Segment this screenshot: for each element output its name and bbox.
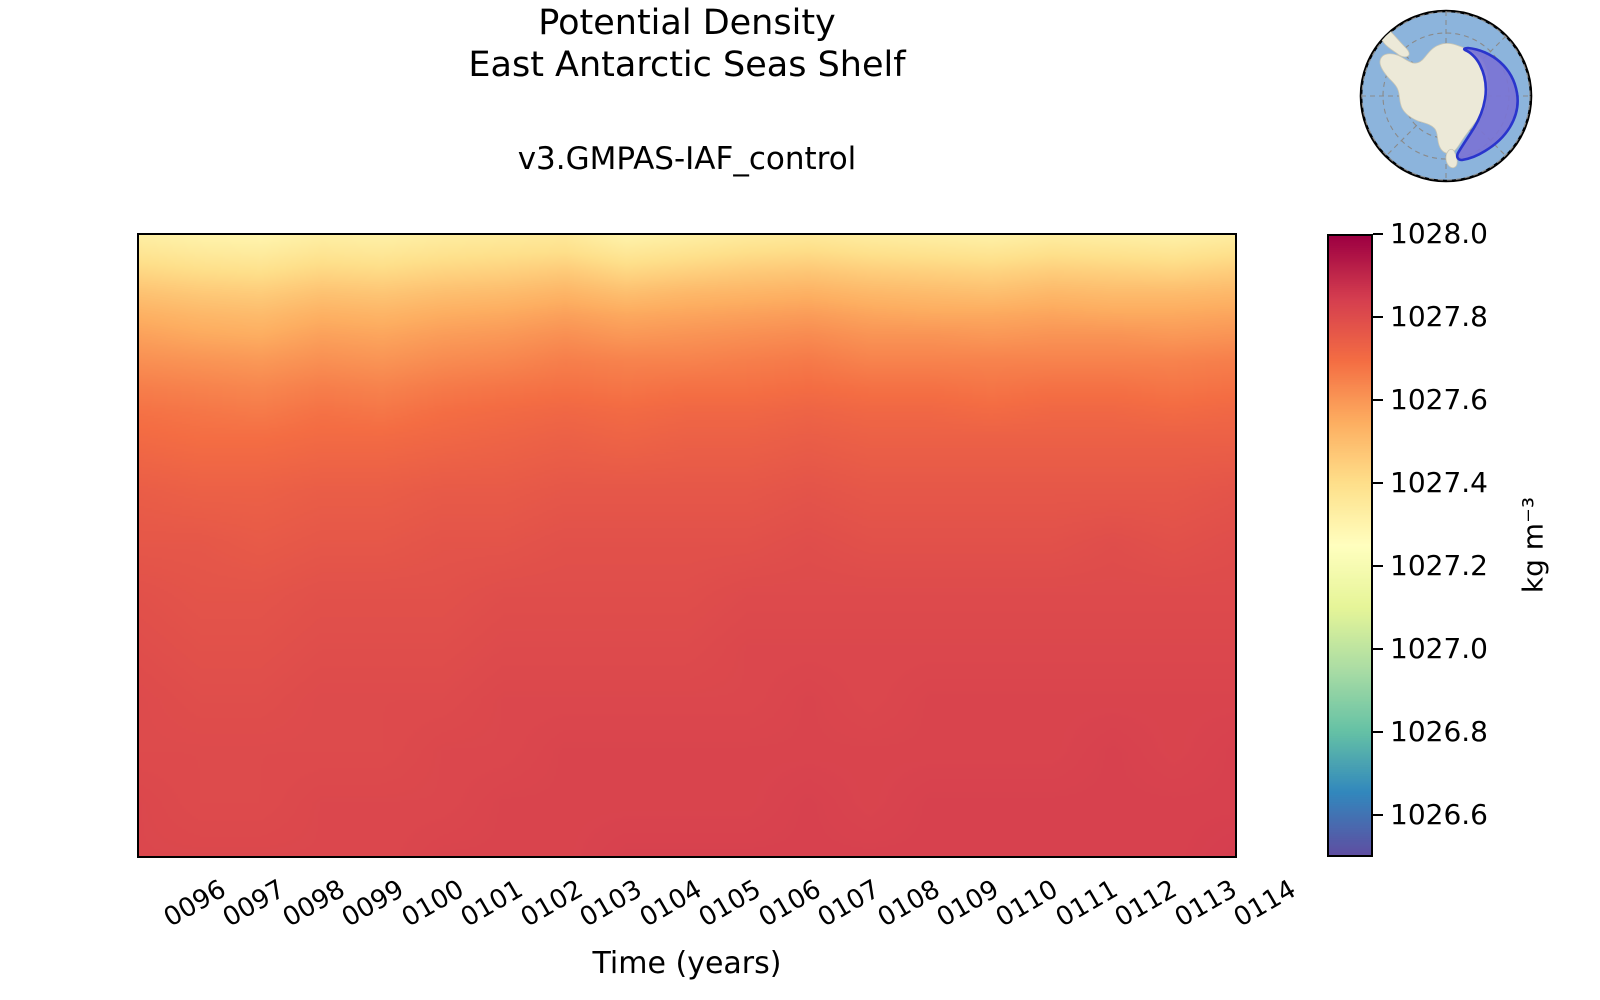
y-axis-tick-mark — [137, 649, 139, 651]
colorbar-tick-mark — [1373, 399, 1383, 401]
x-axis-tick-mark — [970, 856, 972, 858]
x-axis-tick-mark — [435, 856, 437, 858]
x-axis-tick-label: 0106 — [754, 876, 824, 932]
title-line-1: Potential Density — [137, 2, 1237, 44]
x-axis-tick-label: 0102 — [517, 876, 587, 932]
heatmap-plot-area — [137, 233, 1237, 858]
colorbar-tick-mark — [1373, 814, 1383, 816]
colorbar-unit-label: kg m⁻³ — [1517, 497, 1550, 593]
x-axis-tick-label: 0110 — [992, 876, 1062, 932]
x-axis-tick-mark — [911, 856, 913, 858]
x-axis-tick-label: 0098 — [279, 876, 349, 932]
x-axis-tick-mark — [1208, 856, 1210, 858]
colorbar-tick-label: 1027.4 — [1390, 469, 1488, 497]
antarctica-polar-inset-map — [1355, 5, 1537, 187]
colorbar-tick-mark — [1373, 482, 1383, 484]
colorbar-tick-label: 1028.0 — [1390, 220, 1488, 248]
x-axis-tick-mark — [1089, 856, 1091, 858]
x-axis-tick-label: 0111 — [1052, 876, 1122, 932]
y-axis-tick-mark — [137, 754, 139, 756]
colorbar — [1327, 234, 1373, 857]
x-axis-tick-mark — [733, 856, 735, 858]
x-axis-tick-mark — [1030, 856, 1032, 858]
colorbar-tick-mark — [1373, 233, 1383, 235]
colorbar-tick-label: 1027.2 — [1390, 552, 1488, 580]
x-axis-tick-mark — [1149, 856, 1151, 858]
x-axis-tick-label: 0107 — [814, 876, 884, 932]
x-axis-tick-label: 0096 — [160, 876, 230, 932]
colorbar-tick-mark — [1373, 648, 1383, 650]
y-axis-tick-mark — [137, 335, 139, 337]
x-axis-tick-mark — [376, 856, 378, 858]
figure-title: Potential Density East Antarctic Seas Sh… — [137, 2, 1237, 86]
y-axis-tick-mark — [137, 440, 139, 442]
x-axis-tick-mark — [138, 856, 140, 858]
colorbar-tick-label: 1026.6 — [1390, 801, 1488, 829]
x-axis-tick-mark — [792, 856, 794, 858]
colorbar-tick-label: 1027.0 — [1390, 635, 1488, 663]
colorbar-tick-mark — [1373, 731, 1383, 733]
x-axis-tick-mark — [554, 856, 556, 858]
x-axis-tick-mark — [673, 856, 675, 858]
x-axis-tick-label: 0109 — [933, 876, 1003, 932]
x-axis-tick-mark — [257, 856, 259, 858]
colorbar-tick-label: 1026.8 — [1390, 718, 1488, 746]
x-axis-tick-label: 0100 — [398, 876, 468, 932]
title-line-2: East Antarctic Seas Shelf — [137, 44, 1237, 86]
colorbar-tick-mark — [1373, 316, 1383, 318]
colorbar-tick-mark — [1373, 565, 1383, 567]
y-axis-tick-mark — [137, 544, 139, 546]
heatmap-image — [139, 235, 1235, 856]
x-axis-label: Time (years) — [137, 946, 1237, 981]
x-axis-tick-label: 0104 — [636, 876, 706, 932]
x-axis-tick-label: 0099 — [338, 876, 408, 932]
figure-subtitle: v3.GMPAS-IAF_control — [137, 140, 1237, 178]
x-axis-tick-mark — [614, 856, 616, 858]
x-axis-tick-mark — [316, 856, 318, 858]
x-axis-tick-label: 0103 — [576, 876, 646, 932]
x-axis-tick-label: 0114 — [1230, 876, 1300, 932]
x-axis-tick-label: 0097 — [219, 876, 289, 932]
x-axis-tick-label: 0113 — [1171, 876, 1241, 932]
colorbar-tick-label: 1027.8 — [1390, 303, 1488, 331]
colorbar-tick-label: 1027.6 — [1390, 386, 1488, 414]
x-axis-tick-mark — [852, 856, 854, 858]
x-axis-tick-label: 0112 — [1111, 876, 1181, 932]
x-axis-tick-label: 0105 — [695, 876, 765, 932]
x-axis-tick-label: 0101 — [457, 876, 527, 932]
x-axis-tick-mark — [495, 856, 497, 858]
colorbar-gradient — [1329, 236, 1371, 855]
x-axis-tick-mark — [197, 856, 199, 858]
x-axis-tick-label: 0108 — [873, 876, 943, 932]
